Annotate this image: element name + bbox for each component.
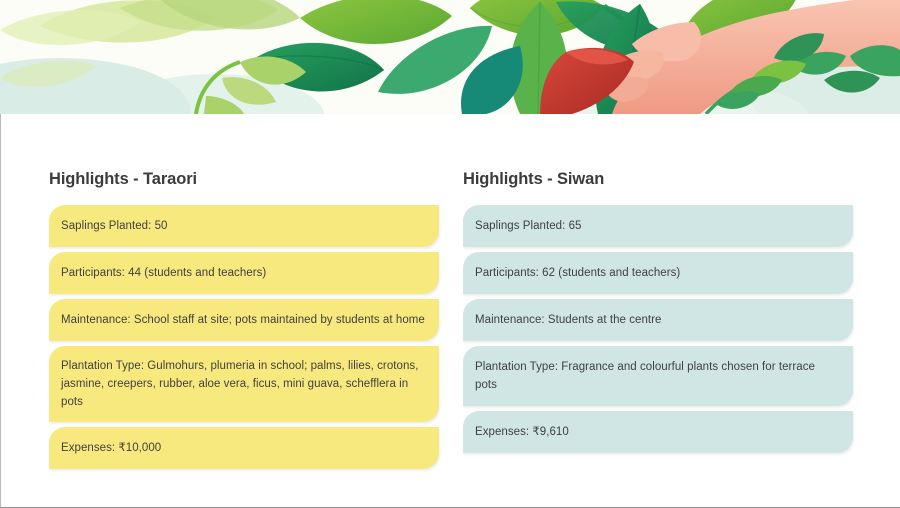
highlight-card-text: Saplings Planted: 65 xyxy=(475,217,839,235)
highlight-card[interactable]: Participants: 62 (students and teachers) xyxy=(463,252,853,294)
highlight-card-text: Plantation Type: Gulmohurs, plumeria in … xyxy=(61,357,425,411)
column-title-taraori: Highlights - Taraori xyxy=(49,170,197,189)
card-list-taraori: Saplings Planted: 50 Participants: 44 (s… xyxy=(49,205,439,474)
page-root: Highlights - Taraori Saplings Planted: 5… xyxy=(0,0,900,508)
hero-illustration xyxy=(0,0,900,114)
highlights-columns: Highlights - Taraori Saplings Planted: 5… xyxy=(1,114,900,508)
highlight-card[interactable]: Participants: 44 (students and teachers) xyxy=(49,252,439,294)
highlight-card-text: Maintenance: School staff at site; pots … xyxy=(61,311,425,329)
highlight-card[interactable]: Maintenance: Students at the centre xyxy=(463,299,853,341)
highlight-card[interactable]: Expenses: ₹9,610 xyxy=(463,411,853,453)
highlight-card[interactable]: Maintenance: School staff at site; pots … xyxy=(49,299,439,341)
highlight-card-text: Maintenance: Students at the centre xyxy=(475,311,839,329)
highlight-card-text: Participants: 44 (students and teachers) xyxy=(61,264,425,282)
column-title-siwan: Highlights - Siwan xyxy=(463,170,604,189)
highlight-card[interactable]: Saplings Planted: 65 xyxy=(463,205,853,247)
hero-artwork xyxy=(0,0,900,114)
card-list-siwan: Saplings Planted: 65 Participants: 62 (s… xyxy=(463,205,853,458)
highlight-card-text: Saplings Planted: 50 xyxy=(61,217,425,235)
highlight-card[interactable]: Plantation Type: Gulmohurs, plumeria in … xyxy=(49,346,439,422)
highlight-card[interactable]: Saplings Planted: 50 xyxy=(49,205,439,247)
content-sheet: Highlights - Taraori Saplings Planted: 5… xyxy=(0,114,900,508)
highlight-card[interactable]: Expenses: ₹10,000 xyxy=(49,427,439,469)
highlight-card-text: Expenses: ₹9,610 xyxy=(475,423,839,441)
highlight-card[interactable]: Plantation Type: Fragrance and colourful… xyxy=(463,346,853,406)
highlight-card-text: Expenses: ₹10,000 xyxy=(61,439,425,457)
highlight-card-text: Plantation Type: Fragrance and colourful… xyxy=(475,358,839,394)
highlight-card-text: Participants: 62 (students and teachers) xyxy=(475,264,839,282)
